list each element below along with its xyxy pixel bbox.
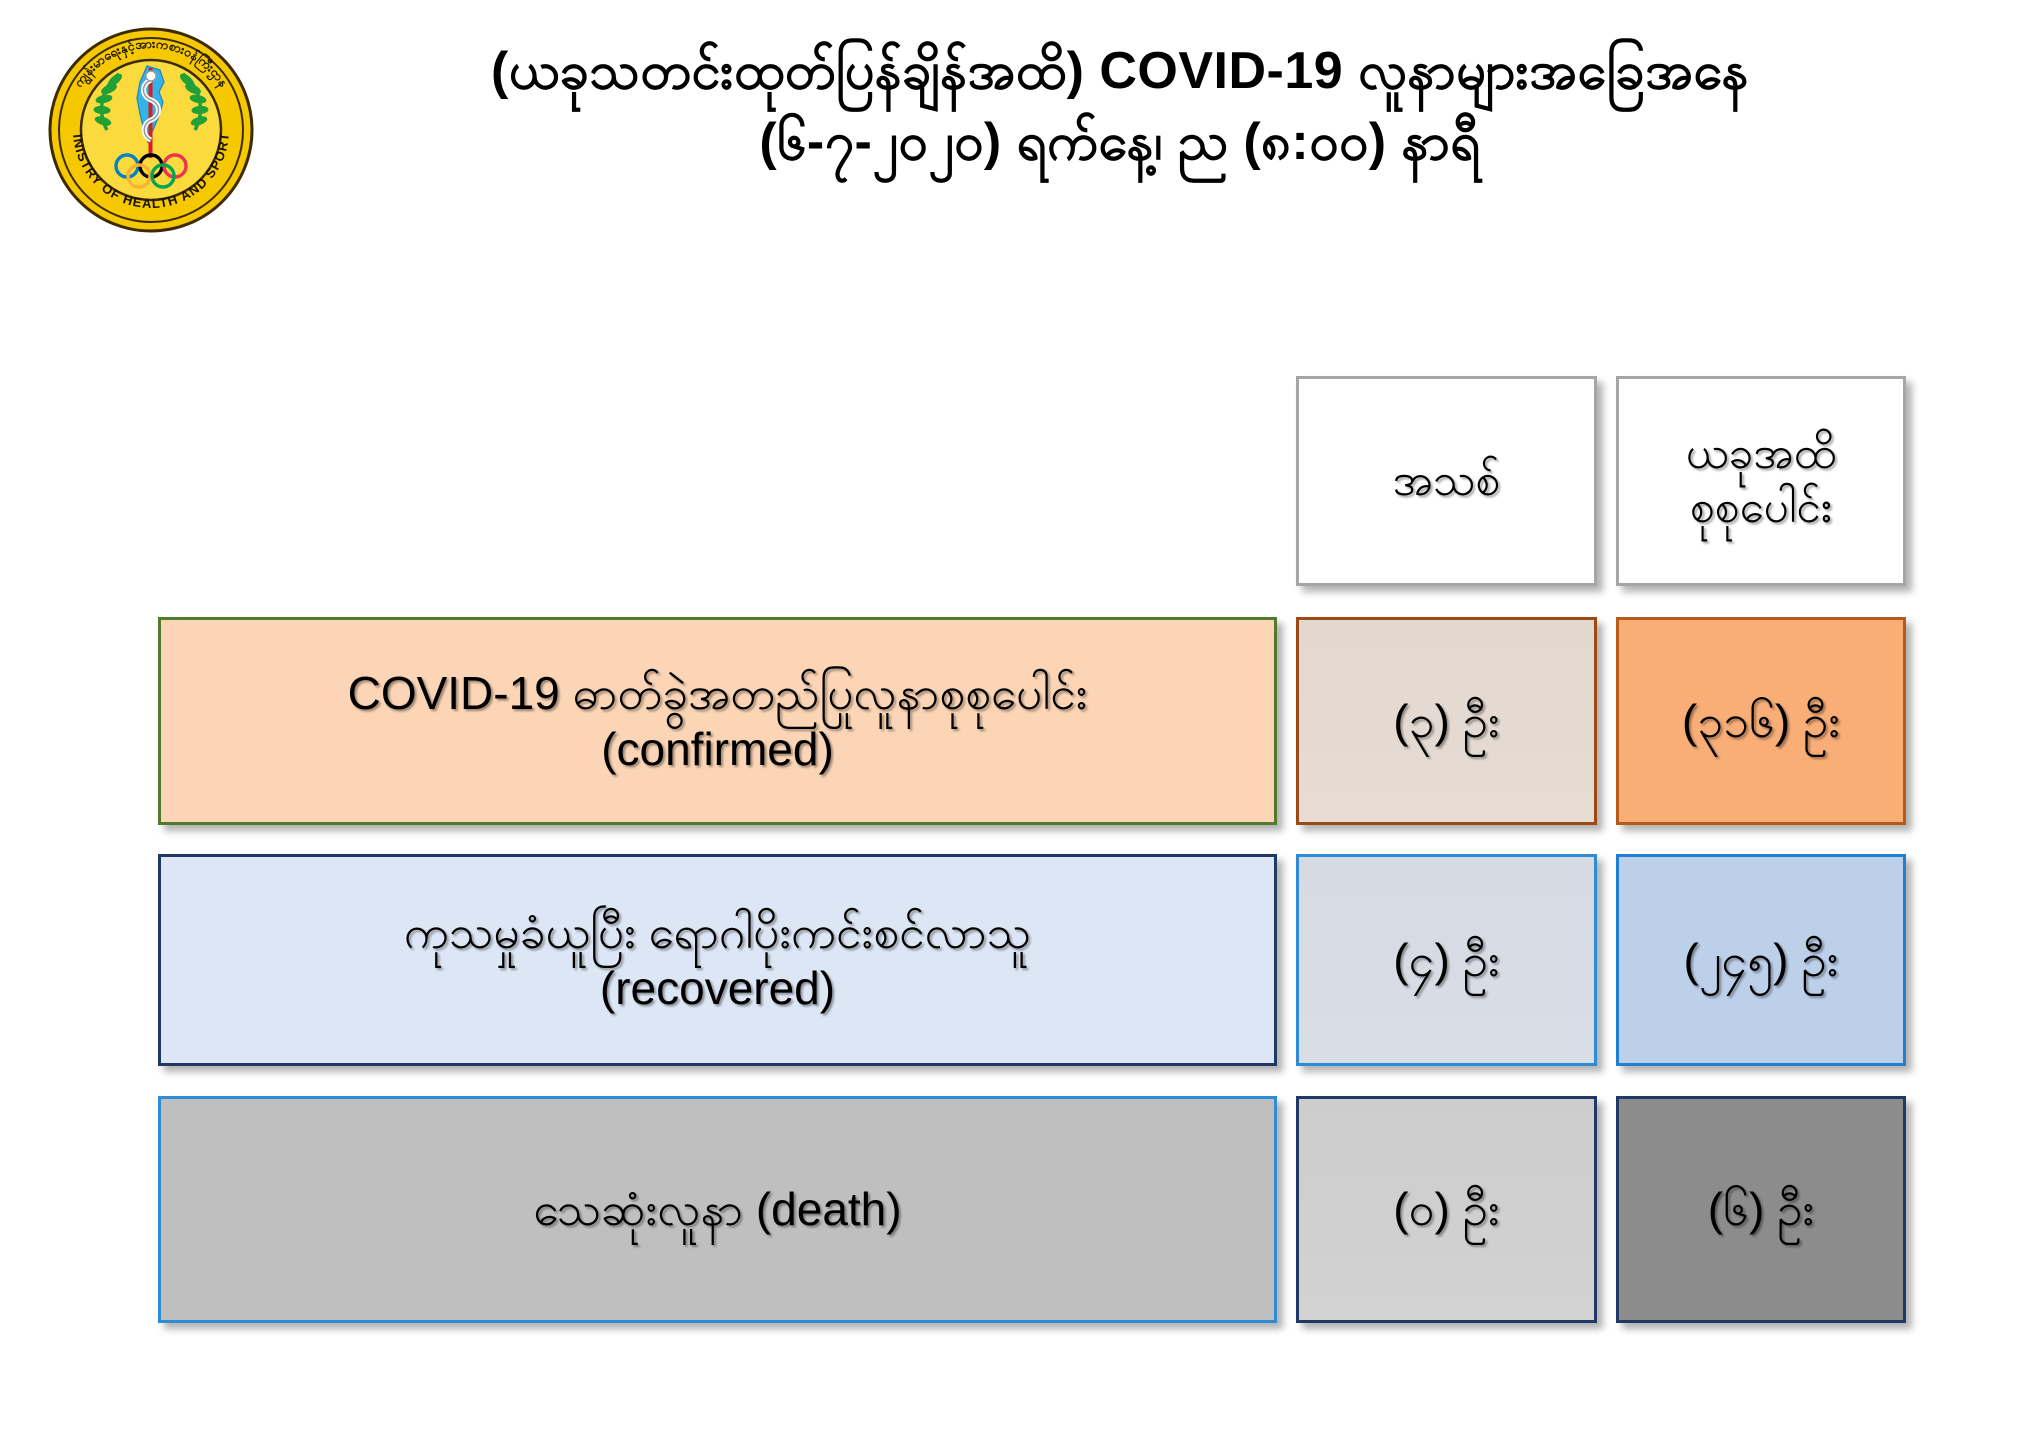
recovered-total-value: (၂၄၅) ဦး	[1670, 932, 1853, 988]
column-header-total: ယခုအထိ စုစုပေါင်း	[1616, 376, 1906, 586]
covid-summary-table: အသစ် ယခုအထိ စုစုပေါင်း COVID-19 ဓာတ်ခွဲအ…	[0, 0, 2031, 1431]
column-header-total-line1: ယခုအထိ	[1686, 429, 1836, 478]
column-header-total-label: ယခုအထိ စုစုပေါင်း	[1672, 427, 1850, 534]
table-row-recovered-new: (၄) ဦး	[1296, 854, 1597, 1066]
confirmed-new-value: (၃) ဦး	[1379, 693, 1514, 749]
recovered-label-line1: ကုသမှုခံယူပြီး ရောဂါပိုးကင်းစင်လာသူ	[404, 906, 1031, 958]
table-row-confirmed-total: (၃၁၆) ဦး	[1616, 617, 1906, 825]
table-row-death-total: (၆) ဦး	[1616, 1096, 1906, 1323]
table-row-recovered-total: (၂၄၅) ဦး	[1616, 854, 1906, 1066]
recovered-label-line2: (recovered)	[600, 962, 835, 1014]
confirmed-total-value: (၃၁၆) ဦး	[1668, 693, 1854, 749]
table-row-confirmed-label: COVID-19 ဓာတ်ခွဲအတည်ပြုလူနာစုစုပေါင်း (c…	[158, 617, 1277, 825]
column-header-new: အသစ်	[1296, 376, 1597, 586]
confirmed-label-line1: COVID-19 ဓာတ်ခွဲအတည်ပြုလူနာစုစုပေါင်း	[348, 667, 1088, 719]
death-total-value: (၆) ဦး	[1694, 1181, 1829, 1237]
confirmed-label-line2: (confirmed)	[601, 723, 834, 775]
table-row-death-label: သေဆုံးလူနာ (death)	[158, 1096, 1277, 1323]
table-row-recovered-label: ကုသမှုခံယူပြီး ရောဂါပိုးကင်းစင်လာသူ (rec…	[158, 854, 1277, 1066]
table-row-death-new: (၀) ဦး	[1296, 1096, 1597, 1323]
death-label-line1: သေဆုံးလူနာ (death)	[519, 1181, 915, 1237]
death-new-value: (၀) ဦး	[1379, 1181, 1514, 1237]
recovered-new-value: (၄) ဦး	[1379, 932, 1514, 988]
column-header-new-label: အသစ်	[1379, 454, 1515, 508]
table-row-confirmed-new: (၃) ဦး	[1296, 617, 1597, 825]
column-header-total-line2: စုစုပေါင်း	[1690, 483, 1832, 532]
